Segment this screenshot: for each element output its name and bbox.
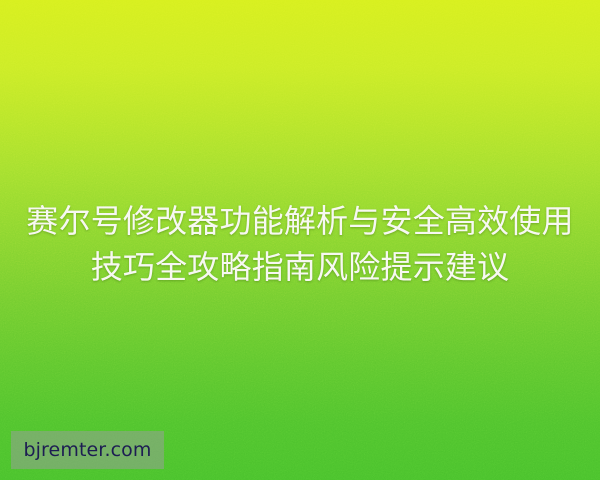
watermark-badge: bjremter.com — [11, 431, 164, 469]
page-title: 赛尔号修改器功能解析与安全高效使用技巧全攻略指南风险提示建议 — [0, 198, 600, 290]
cover-card: 赛尔号修改器功能解析与安全高效使用技巧全攻略指南风险提示建议 bjremter.… — [0, 0, 600, 480]
watermark-text: bjremter.com — [24, 441, 152, 460]
